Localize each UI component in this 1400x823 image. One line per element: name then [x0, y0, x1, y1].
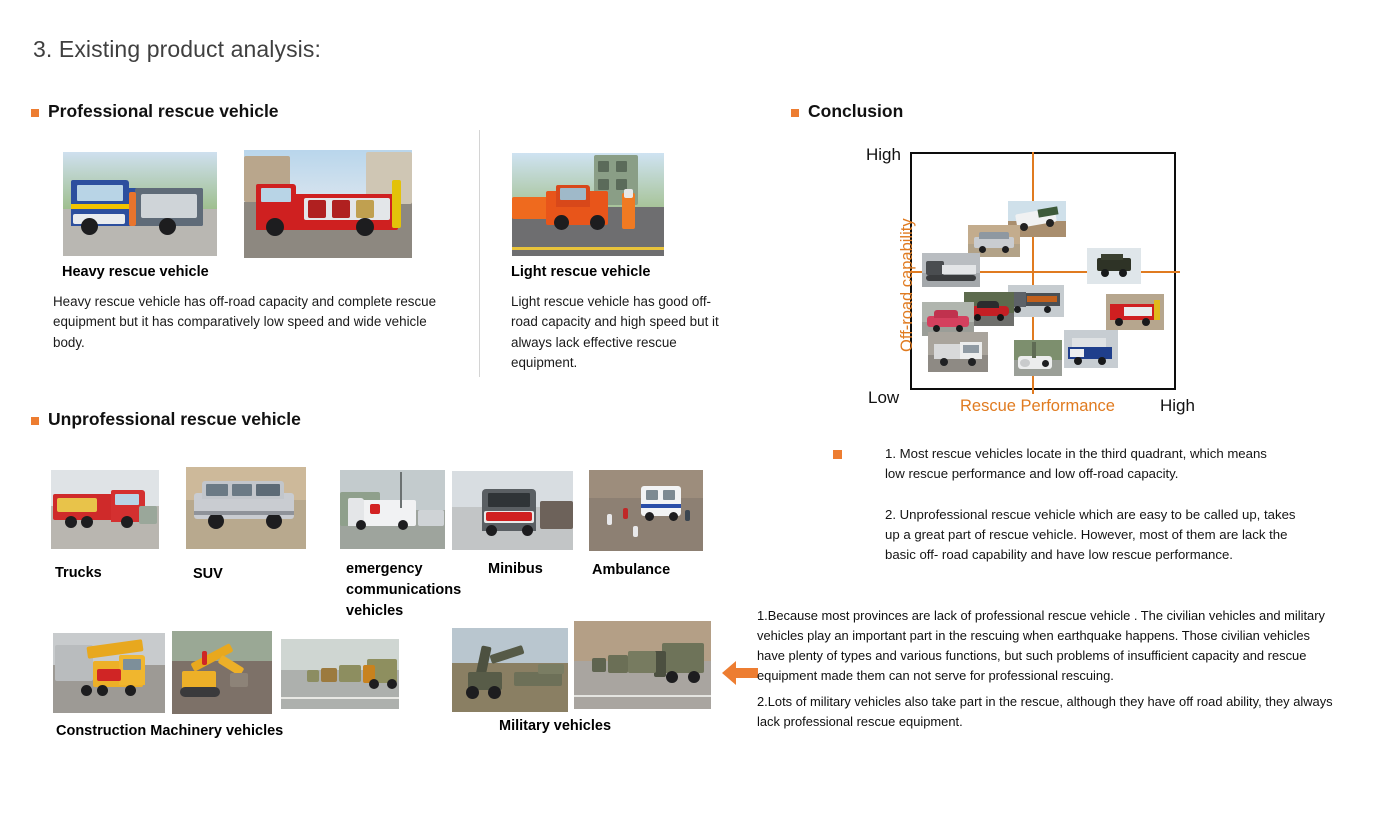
left-arrow-icon [720, 655, 760, 696]
photo-construction-crane-truck [53, 633, 165, 713]
photo-suv [186, 467, 306, 549]
section-divider [479, 130, 480, 377]
chart-thumb-white-van [1014, 340, 1062, 376]
square-bullet-icon [31, 109, 39, 117]
description-light-rescue: Light rescue vehicle has good off-road c… [511, 292, 737, 374]
section-heading-professional-label: Professional rescue vehicle [48, 101, 279, 122]
conclusion-point-2: 2. Unprofessional rescue vehicle which a… [885, 505, 1297, 565]
caption-heavy-rescue: Heavy rescue vehicle [62, 264, 209, 280]
caption-trucks: Trucks [55, 565, 102, 581]
photo-trucks [51, 470, 159, 549]
bottom-paragraph-1: 1.Because most provinces are lack of pro… [757, 606, 1333, 686]
chart-thumb-red-fire-engine [1106, 294, 1164, 330]
photo-light-rescue-vehicle [512, 153, 664, 256]
square-bullet-icon [833, 450, 842, 459]
section-heading-professional: Professional rescue vehicle [31, 101, 279, 122]
chart-y-axis-tick-high: High [866, 145, 901, 165]
caption-construction-machinery: Construction Machinery vehicles [56, 723, 283, 739]
page-title: 3. Existing product analysis: [33, 36, 321, 63]
chart-x-axis-label: Rescue Performance [960, 397, 1115, 416]
square-bullet-icon [31, 417, 39, 425]
photo-heavy-rescue-red-truck [244, 150, 412, 258]
photo-military-engineering-vehicle [452, 628, 568, 712]
photo-heavy-rescue-blue-truck [63, 152, 217, 256]
quadrant-chart [910, 152, 1176, 390]
chart-thumb-dump-truck [1008, 285, 1064, 317]
caption-military-vehicles: Military vehicles [499, 718, 611, 734]
section-heading-unprofessional: Unprofessional rescue vehicle [31, 409, 301, 430]
square-bullet-icon [791, 109, 799, 117]
slide-root: 3. Existing product analysis: Profession… [0, 0, 1400, 823]
caption-light-rescue: Light rescue vehicle [511, 264, 650, 280]
photo-truck-convoy [281, 639, 399, 709]
chart-thumb-pink-sedan [922, 302, 974, 336]
section-heading-conclusion: Conclusion [791, 101, 903, 122]
section-heading-unprofessional-label: Unprofessional rescue vehicle [48, 409, 301, 430]
photo-ambulance [589, 470, 703, 551]
photo-minibus [452, 471, 573, 550]
chart-thumb-tracked-transporter [922, 253, 980, 287]
conclusion-point-1: 1. Most rescue vehicles locate in the th… [885, 444, 1285, 484]
bottom-paragraph-2: 2.Lots of military vehicles also take pa… [757, 692, 1333, 732]
chart-y-axis-label: Off-road capability [898, 218, 917, 352]
section-heading-conclusion-label: Conclusion [808, 101, 903, 122]
photo-construction-excavator [172, 631, 272, 714]
photo-military-convoy [574, 621, 711, 709]
chart-y-axis-tick-low: Low [868, 388, 899, 408]
chart-thumb-white-mini-truck [928, 332, 988, 372]
chart-thumb-blue-tipper-truck [1064, 330, 1118, 368]
caption-ambulance: Ambulance [592, 562, 670, 578]
caption-suv: SUV [193, 566, 223, 582]
photo-emergency-communications [340, 470, 445, 549]
caption-emergency-communications: emergency communications vehicles [346, 559, 466, 622]
description-heavy-rescue: Heavy rescue vehicle has off-road capaci… [53, 292, 445, 353]
chart-x-axis-tick-high: High [1160, 396, 1195, 416]
chart-thumb-military-truck [1087, 248, 1141, 284]
caption-minibus: Minibus [488, 561, 543, 577]
